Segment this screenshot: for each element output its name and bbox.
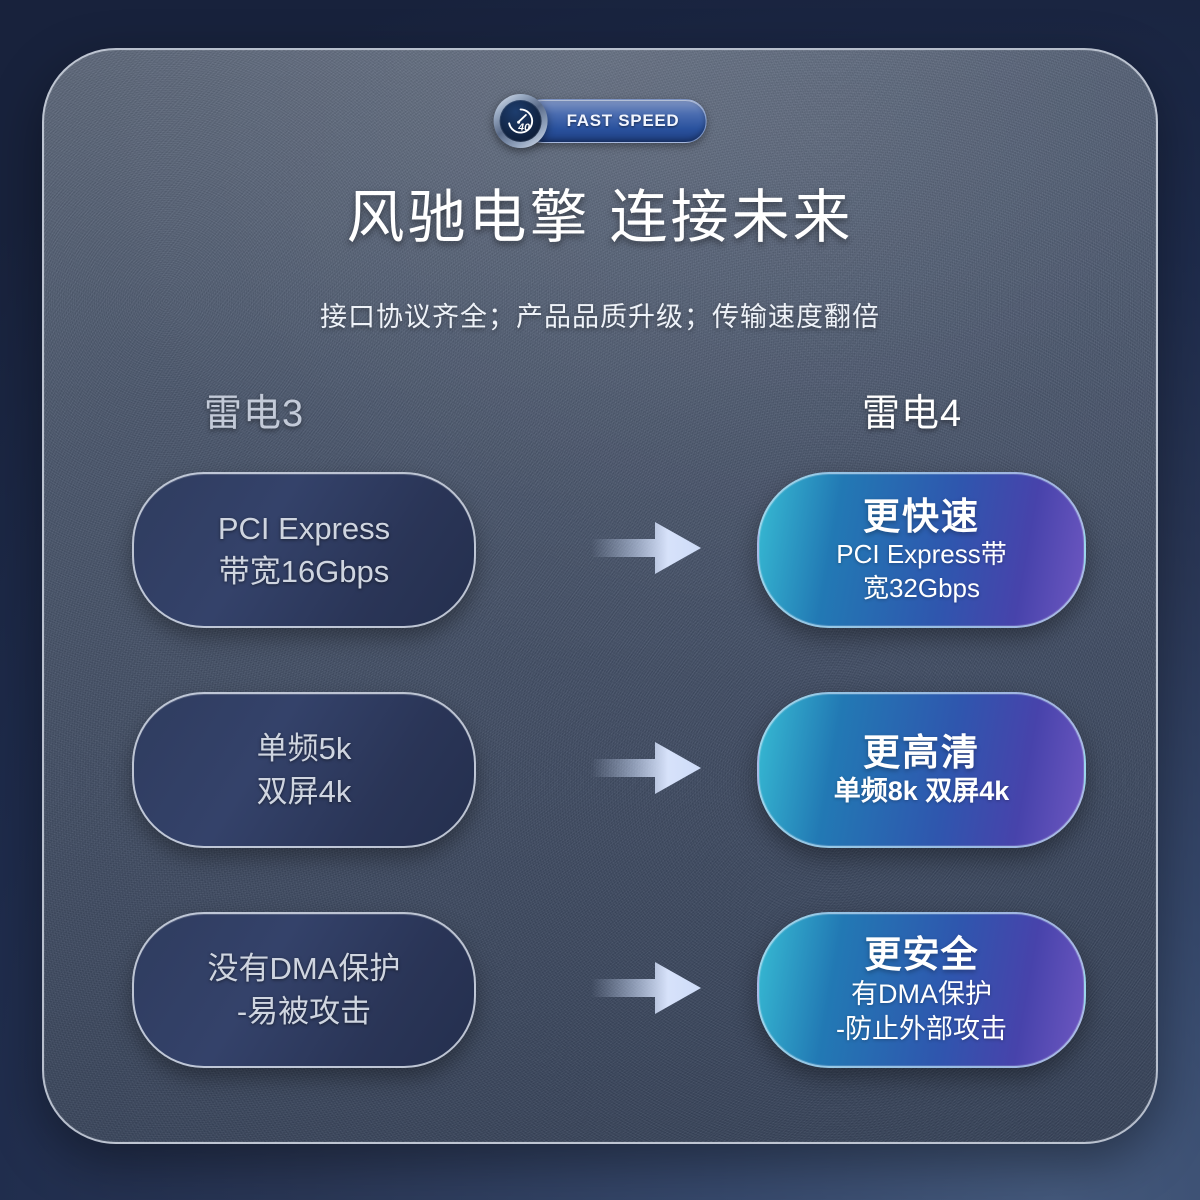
new-spec-line: 宽32Gbps (863, 573, 980, 605)
comparison-row: 没有DMA保护 -易被攻击 (44, 912, 1156, 1064)
comparison-row: 单频5k 双屏4k (44, 692, 1156, 844)
new-spec-line: 有DMA保护 (851, 978, 992, 1011)
new-spec-card: 更安全 有DMA保护 -防止外部攻击 (757, 912, 1086, 1068)
fast-speed-label: FAST SPEED (567, 111, 680, 131)
arrow-right-icon (589, 518, 703, 578)
old-spec-line: 双屏4k (257, 770, 352, 813)
new-spec-headline: 更快速 (863, 496, 980, 537)
column-header-thunderbolt4: 雷电4 (862, 382, 962, 437)
old-spec-card: 没有DMA保护 -易被攻击 (132, 912, 476, 1068)
new-spec-line: 单频8k 双屏4k (834, 775, 1010, 808)
new-spec-card: 更快速 PCI Express带 宽32Gbps (757, 472, 1086, 628)
infographic-stage: 40 FAST SPEED 风驰电擎 连接未来 接口协议齐全；产品品质升级；传输… (0, 0, 1200, 1200)
new-spec-headline: 更高清 (863, 732, 980, 773)
arrow-right-icon (589, 738, 703, 798)
old-spec-card: 单频5k 双屏4k (132, 692, 476, 848)
old-spec-line: PCI Express (218, 507, 390, 550)
new-spec-line: -防止外部攻击 (836, 1013, 1007, 1046)
new-spec-headline: 更安全 (865, 934, 979, 975)
old-spec-card: PCI Express 带宽16Gbps (132, 472, 476, 628)
old-spec-line: 单频5k (257, 727, 352, 770)
old-spec-line: -易被攻击 (237, 990, 371, 1033)
new-spec-line: PCI Express带 (836, 539, 1007, 571)
column-header-thunderbolt3: 雷电3 (204, 382, 304, 437)
fast-speed-badge: 40 FAST SPEED (494, 94, 707, 148)
new-spec-card: 更高清 单频8k 双屏4k (757, 692, 1086, 848)
old-spec-line: 带宽16Gbps (219, 550, 390, 593)
speed-gauge-disc: 40 (494, 94, 548, 148)
arrow-right-icon (589, 958, 703, 1018)
content-panel: 40 FAST SPEED 风驰电擎 连接未来 接口协议齐全；产品品质升级；传输… (42, 48, 1158, 1144)
old-spec-line: 没有DMA保护 (208, 947, 401, 990)
comparison-row: PCI Express 带宽16Gbps (44, 472, 1156, 624)
gauge-value-text: 40 (517, 122, 530, 134)
page-title: 风驰电擎 连接未来 (44, 170, 1156, 254)
page-subtitle: 接口协议齐全；产品品质升级；传输速度翻倍 (44, 295, 1156, 334)
speedometer-icon: 40 (500, 100, 542, 142)
fast-speed-pill: FAST SPEED (522, 99, 707, 143)
